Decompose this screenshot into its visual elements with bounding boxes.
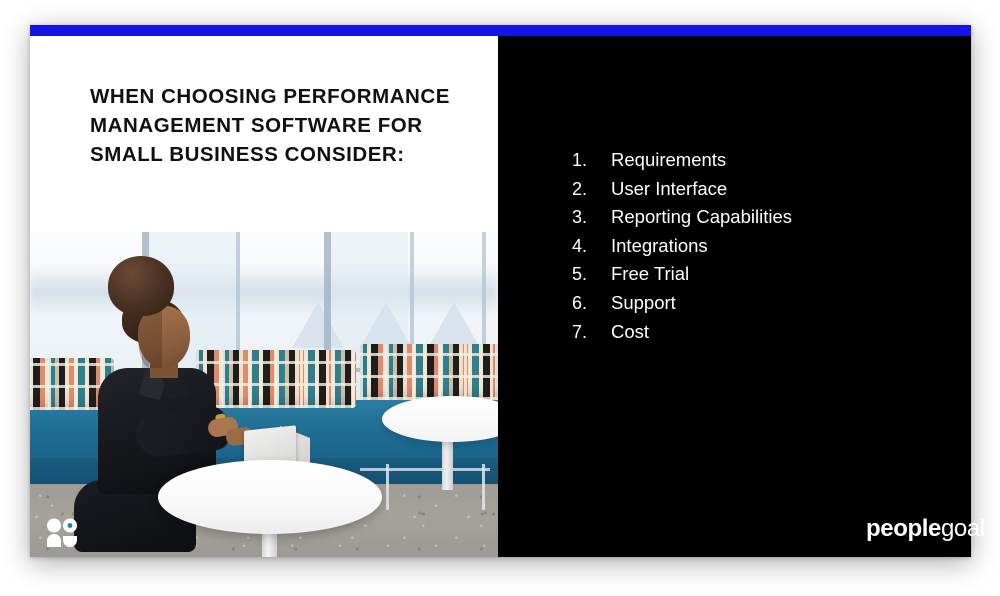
list-item-number: 1. xyxy=(572,150,611,171)
list-item-number: 6. xyxy=(572,293,611,314)
list-item-number: 3. xyxy=(572,207,611,228)
photo-window-chevron xyxy=(428,302,480,348)
list-item: 3. Reporting Capabilities xyxy=(572,206,932,235)
list-item-number: 2. xyxy=(572,179,611,200)
list-item: 6. Support xyxy=(572,292,932,321)
list-item: 5. Free Trial xyxy=(572,263,932,292)
list-item: 2. User Interface xyxy=(572,178,932,207)
photo-window-chevron xyxy=(292,302,344,348)
list-item-number: 7. xyxy=(572,322,611,343)
list-item-label: Cost xyxy=(611,321,649,343)
list-item-label: Integrations xyxy=(611,235,708,257)
top-accent-bar xyxy=(30,25,971,36)
list-item-label: Requirements xyxy=(611,149,726,171)
screenshot-canvas: WHEN CHOOSING PERFORMANCE MANAGEMENT SOF… xyxy=(0,0,1000,596)
list-item-label: User Interface xyxy=(611,178,727,200)
photo-bench-leg xyxy=(386,464,389,510)
slide-right-pane: 1. Requirements 2. User Interface 3. Rep… xyxy=(498,36,971,557)
photo-table-main xyxy=(158,460,382,534)
agenda-list: 1. Requirements 2. User Interface 3. Rep… xyxy=(572,149,932,349)
list-item-label: Reporting Capabilities xyxy=(611,206,792,228)
photo-cushion xyxy=(360,344,498,400)
photo-window-chevron xyxy=(360,302,412,348)
photo-bench-leg xyxy=(482,464,485,510)
list-item-label: Free Trial xyxy=(611,263,689,285)
photo-bench-rail xyxy=(360,468,490,471)
peoplegoal-logo: peoplegoal xyxy=(866,515,985,543)
list-item-label: Support xyxy=(611,292,676,314)
list-item: 1. Requirements xyxy=(572,149,932,178)
photo-cushion xyxy=(196,350,356,408)
people-group-icon xyxy=(46,518,78,548)
photo-person-hair-bun xyxy=(108,256,174,316)
list-item-number: 4. xyxy=(572,236,611,257)
presentation-slide: WHEN CHOOSING PERFORMANCE MANAGEMENT SOF… xyxy=(30,25,971,557)
list-item: 4. Integrations xyxy=(572,235,932,264)
logo-bold-text: people xyxy=(866,515,941,542)
slide-left-pane: WHEN CHOOSING PERFORMANCE MANAGEMENT SOF… xyxy=(30,36,498,557)
slide-photo xyxy=(30,232,498,557)
list-item: 7. Cost xyxy=(572,321,932,350)
slide-headline: WHEN CHOOSING PERFORMANCE MANAGEMENT SOF… xyxy=(90,82,458,169)
list-item-number: 5. xyxy=(572,264,611,285)
logo-light-text: goal xyxy=(941,515,985,542)
